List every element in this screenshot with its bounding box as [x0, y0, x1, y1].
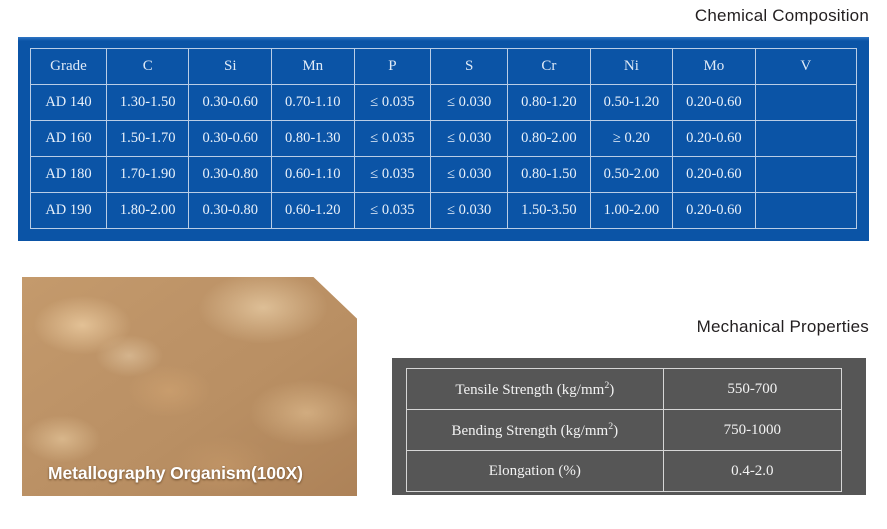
column-header-v: V: [755, 49, 856, 85]
table-row: Tensile Strength (kg/mm2) 550-700: [407, 369, 842, 410]
cell-p: ≤ 0.035: [354, 121, 431, 157]
cell-mn: 0.60-1.20: [272, 193, 355, 229]
property-label-elongation: Elongation (%): [407, 451, 664, 492]
cell-mo: 0.20-0.60: [673, 85, 756, 121]
column-header-s: S: [431, 49, 508, 85]
mechanical-properties-table: Tensile Strength (kg/mm2) 550-700 Bendin…: [406, 368, 842, 492]
chemical-composition-table: Grade C Si Mn P S Cr Ni Mo V AD 140 1.30…: [30, 48, 857, 229]
cell-ni: 1.00-2.00: [590, 193, 673, 229]
cell-ni: 0.50-2.00: [590, 157, 673, 193]
mechanical-properties-panel: Tensile Strength (kg/mm2) 550-700 Bendin…: [392, 358, 866, 495]
cell-v: [755, 121, 856, 157]
cell-c: 1.70-1.90: [106, 157, 189, 193]
cell-mn: 0.70-1.10: [272, 85, 355, 121]
table-row: AD 180 1.70-1.90 0.30-0.80 0.60-1.10 ≤ 0…: [31, 157, 857, 193]
cell-cr: 0.80-1.20: [508, 85, 591, 121]
metallography-image: Metallography Organism(100X): [22, 277, 357, 496]
cell-grade: AD 160: [31, 121, 107, 157]
cell-v: [755, 157, 856, 193]
column-header-mn: Mn: [272, 49, 355, 85]
column-header-mo: Mo: [673, 49, 756, 85]
column-header-p: P: [354, 49, 431, 85]
cell-mn: 0.80-1.30: [272, 121, 355, 157]
cell-p: ≤ 0.035: [354, 193, 431, 229]
cell-v: [755, 193, 856, 229]
cell-s: ≤ 0.030: [431, 193, 508, 229]
chemical-composition-heading: Chemical Composition: [695, 6, 869, 26]
column-header-ni: Ni: [590, 49, 673, 85]
metallography-caption: Metallography Organism(100X): [48, 463, 303, 484]
label-text: Tensile Strength (kg/mm: [455, 382, 604, 398]
cell-p: ≤ 0.035: [354, 157, 431, 193]
property-label-tensile-strength: Tensile Strength (kg/mm2): [407, 369, 664, 410]
mechanical-properties-heading: Mechanical Properties: [697, 317, 869, 337]
cell-c: 1.50-1.70: [106, 121, 189, 157]
cell-ni: ≥ 0.20: [590, 121, 673, 157]
label-tail: ): [609, 382, 614, 398]
table-header-row: Grade C Si Mn P S Cr Ni Mo V: [31, 49, 857, 85]
property-value-tensile-strength: 550-700: [663, 369, 841, 410]
cell-s: ≤ 0.030: [431, 121, 508, 157]
cell-si: 0.30-0.80: [189, 193, 272, 229]
cell-si: 0.30-0.80: [189, 157, 272, 193]
property-value-bending-strength: 750-1000: [663, 410, 841, 451]
table-row: Bending Strength (kg/mm2) 750-1000: [407, 410, 842, 451]
cell-s: ≤ 0.030: [431, 85, 508, 121]
cell-mo: 0.20-0.60: [673, 193, 756, 229]
property-value-elongation: 0.4-2.0: [663, 451, 841, 492]
cell-mn: 0.60-1.10: [272, 157, 355, 193]
cell-grade: AD 180: [31, 157, 107, 193]
cell-v: [755, 85, 856, 121]
table-row: AD 160 1.50-1.70 0.30-0.60 0.80-1.30 ≤ 0…: [31, 121, 857, 157]
cell-c: 1.80-2.00: [106, 193, 189, 229]
cell-cr: 1.50-3.50: [508, 193, 591, 229]
cell-s: ≤ 0.030: [431, 157, 508, 193]
cell-ni: 0.50-1.20: [590, 85, 673, 121]
cell-si: 0.30-0.60: [189, 121, 272, 157]
table-row: Elongation (%) 0.4-2.0: [407, 451, 842, 492]
cell-grade: AD 140: [31, 85, 107, 121]
cell-cr: 0.80-1.50: [508, 157, 591, 193]
label-tail: ): [613, 423, 618, 439]
chemical-composition-panel: Grade C Si Mn P S Cr Ni Mo V AD 140 1.30…: [18, 37, 869, 241]
cell-c: 1.30-1.50: [106, 85, 189, 121]
cell-cr: 0.80-2.00: [508, 121, 591, 157]
column-header-grade: Grade: [31, 49, 107, 85]
cell-mo: 0.20-0.60: [673, 157, 756, 193]
property-label-bending-strength: Bending Strength (kg/mm2): [407, 410, 664, 451]
cell-si: 0.30-0.60: [189, 85, 272, 121]
label-text: Bending Strength (kg/mm: [452, 423, 609, 439]
table-row: AD 190 1.80-2.00 0.30-0.80 0.60-1.20 ≤ 0…: [31, 193, 857, 229]
column-header-c: C: [106, 49, 189, 85]
column-header-si: Si: [189, 49, 272, 85]
cell-p: ≤ 0.035: [354, 85, 431, 121]
table-row: AD 140 1.30-1.50 0.30-0.60 0.70-1.10 ≤ 0…: [31, 85, 857, 121]
cell-grade: AD 190: [31, 193, 107, 229]
column-header-cr: Cr: [508, 49, 591, 85]
cell-mo: 0.20-0.60: [673, 121, 756, 157]
